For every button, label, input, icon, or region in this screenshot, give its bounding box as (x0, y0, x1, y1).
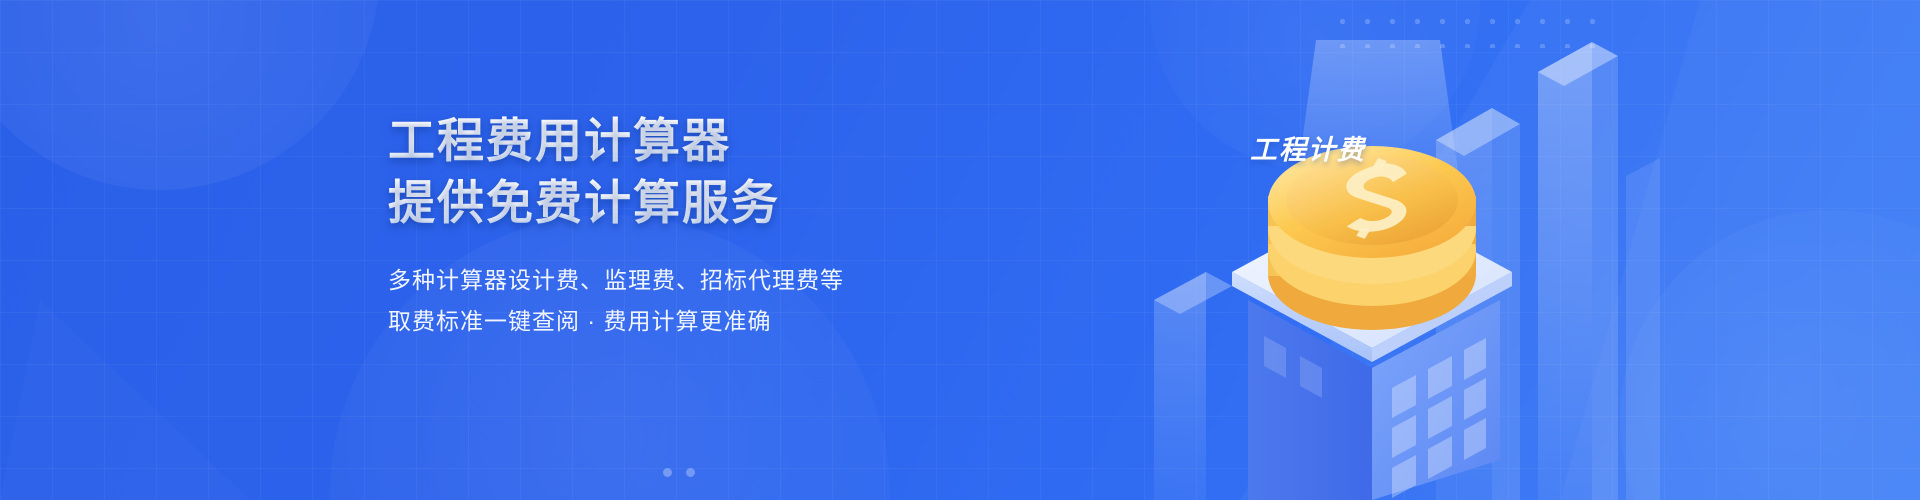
banner-text-content: 工程费用计算器 提供免费计算服务 多种计算器设计费、监理费、招标代理费等 取费标… (388, 110, 1008, 342)
hero-banner: 工程费用计算器 提供免费计算服务 多种计算器设计费、监理费、招标代理费等 取费标… (0, 0, 1920, 500)
illustration-badge-label: 工程计费 (1250, 128, 1366, 167)
banner-illustration: 工程计费 (1140, 0, 1700, 500)
headline-group: 工程费用计算器 提供免费计算服务 (388, 110, 1008, 234)
headline-line-2: 提供免费计算服务 (388, 172, 1008, 234)
isometric-city-illustration (1140, 0, 1700, 500)
carousel-dot-icon-2[interactable] (686, 468, 695, 477)
dollar-coin-icon (1268, 146, 1476, 330)
subtitle-line-1: 多种计算器设计费、监理费、招标代理费等 (388, 260, 1008, 301)
subtitle-line-2: 取费标准一键查阅 · 费用计算更准确 (388, 301, 1008, 342)
headline-line-1: 工程费用计算器 (388, 110, 1008, 172)
carousel-dot-icon-1[interactable] (663, 468, 672, 477)
carousel-dots[interactable] (663, 468, 695, 477)
